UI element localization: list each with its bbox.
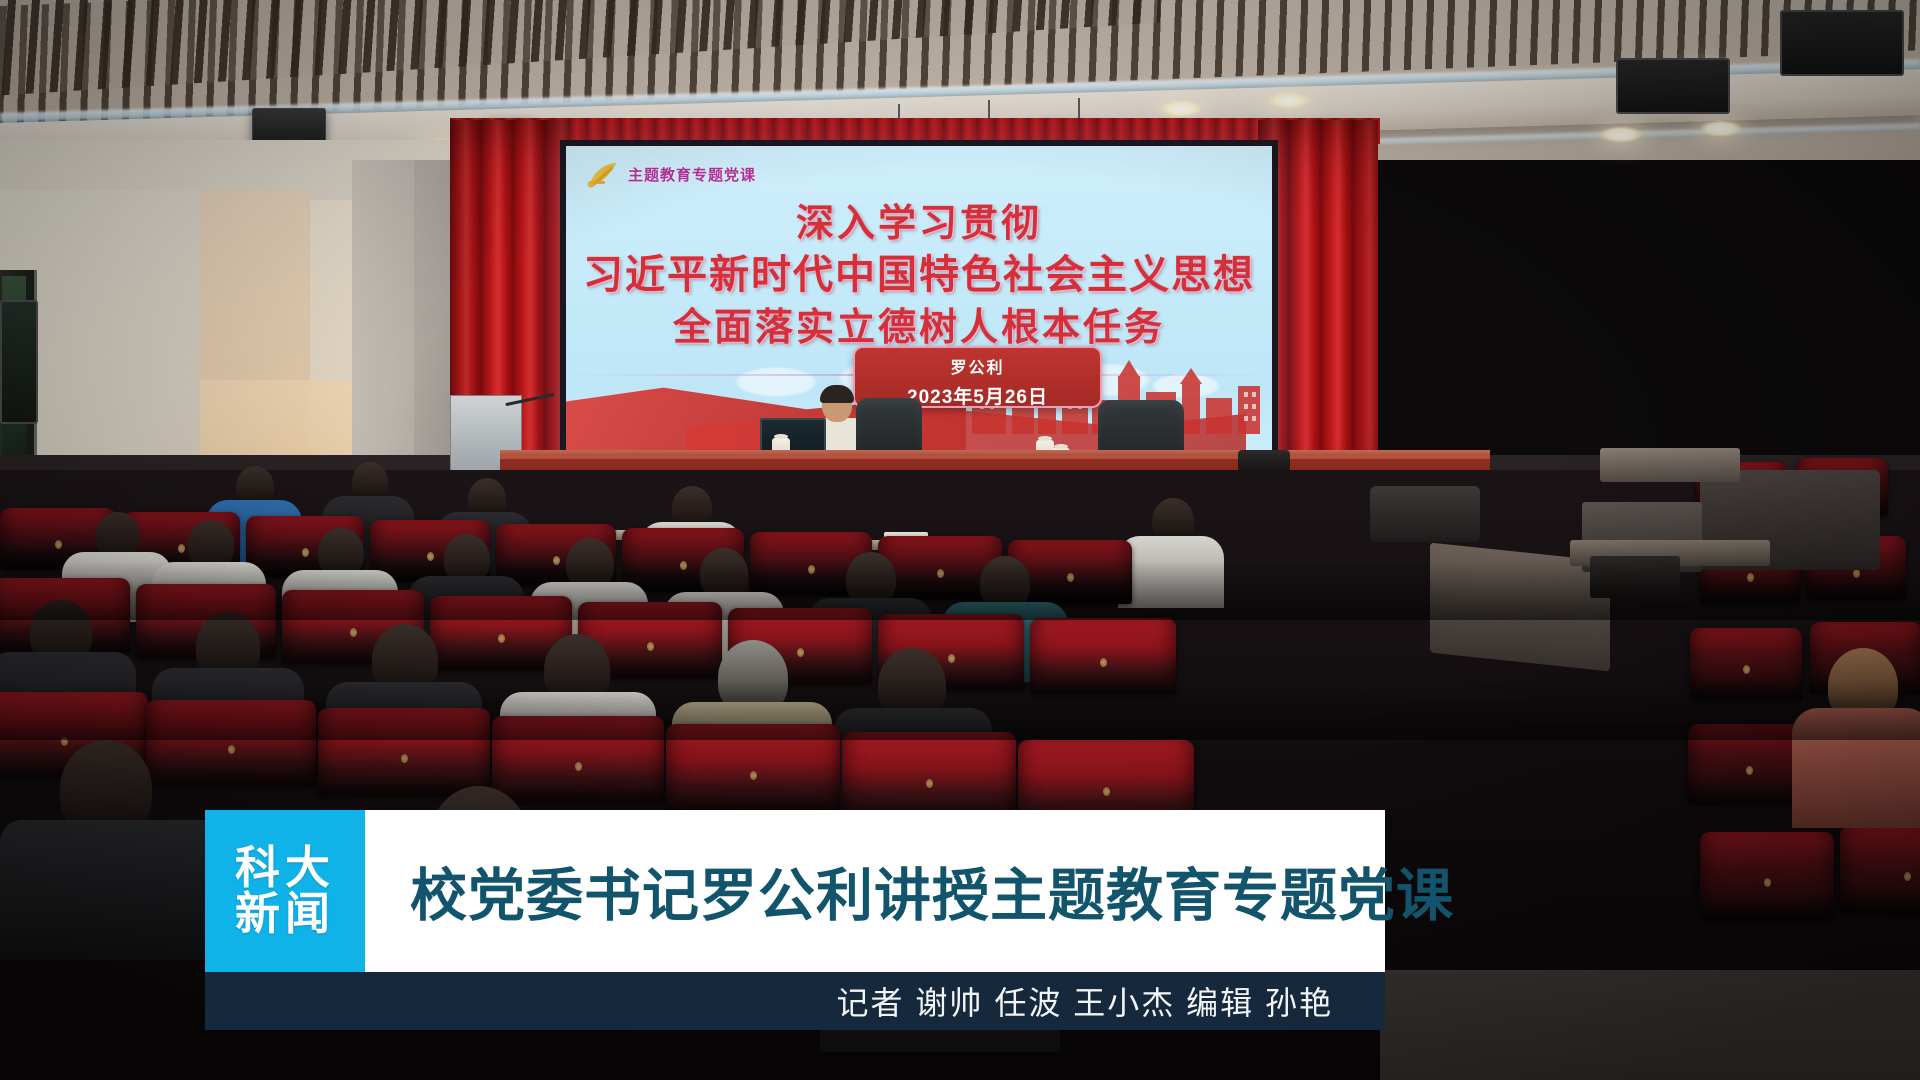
video-frame: 主题教育专题党课 <box>0 0 1920 1080</box>
channel-logo-box: 科大 新闻 <box>205 810 365 972</box>
monitor-panel <box>0 300 38 424</box>
stage-edge-rail <box>1600 448 1740 482</box>
headline-text: 校党委书记罗公利讲授主题教育专题党课 <box>410 850 1454 932</box>
wall-column <box>352 160 414 480</box>
stage-monitor <box>1238 450 1290 472</box>
ceiling-downlight <box>1160 100 1202 117</box>
ceiling-downlight <box>1600 126 1642 143</box>
ceiling-downlight <box>1700 120 1742 137</box>
lower-third-chyron: 科大 新闻 校党委书记罗公利讲授主题教育专题党课 记者 谢帅 任波 王小杰 编辑… <box>205 810 1385 1015</box>
speaker-hair <box>820 385 854 403</box>
credits-bar: 记者 谢帅 任波 王小杰 编辑 孙艳 <box>205 972 1385 1030</box>
channel-logo-line-2: 新闻 <box>235 891 335 937</box>
led-headline-line-1: 深入学习贯彻 <box>566 192 1272 247</box>
auditorium-seat-side <box>1700 832 1834 920</box>
wall-projector <box>1780 10 1904 76</box>
credits-text: 记者 谢帅 任波 王小杰 编辑 孙艳 <box>837 978 1333 1024</box>
led-headline-line-2: 习近平新时代中国特色社会主义思想 <box>566 242 1272 300</box>
floor-monitor-speaker <box>1370 486 1480 542</box>
led-kicker-text: 主题教育专题党课 <box>628 164 756 185</box>
auditorium-seat-side <box>1840 826 1920 914</box>
led-speaker-name: 罗公利 <box>855 354 1100 378</box>
party-hammer-sickle-emblem <box>584 160 622 190</box>
headline-bar: 校党委书记罗公利讲授主题教育专题党课 <box>365 810 1385 972</box>
row-shadow <box>0 560 1920 620</box>
aisle-floor <box>1380 970 1920 1080</box>
wall-projector <box>1616 58 1730 114</box>
row-shadow <box>0 680 1920 740</box>
audience-torso-foreground <box>0 820 230 960</box>
auditorium-seat <box>842 732 1016 822</box>
led-headline-line-3: 全面落实立德树人根本任务 <box>566 296 1272 351</box>
ceiling-downlight <box>1268 92 1310 109</box>
channel-logo-line-1: 科大 <box>235 845 335 891</box>
